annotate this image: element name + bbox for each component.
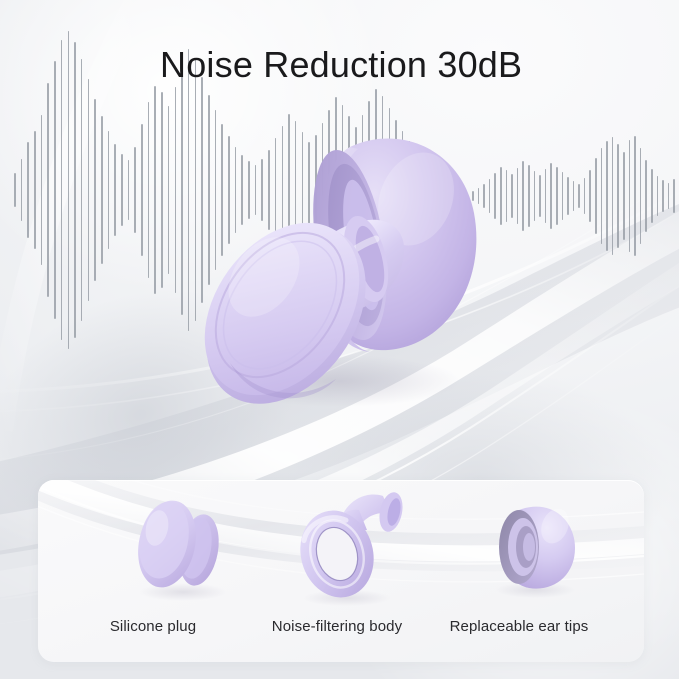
waveform-bar bbox=[645, 160, 647, 232]
waveform-bar bbox=[528, 165, 530, 227]
waveform-bar bbox=[511, 174, 513, 218]
waveform-bar bbox=[101, 116, 103, 264]
waveform-bar bbox=[522, 161, 524, 231]
waveform-bar bbox=[21, 159, 23, 221]
waveform-bar bbox=[567, 177, 569, 215]
waveform-bar bbox=[550, 163, 552, 229]
noise-filtering-body-figure bbox=[285, 482, 425, 607]
waveform-bar bbox=[14, 173, 16, 207]
waveform-bar bbox=[148, 102, 150, 278]
waveform-bar bbox=[134, 147, 136, 233]
waveform-bar bbox=[601, 148, 603, 244]
waveform-bar bbox=[54, 61, 56, 319]
waveform-bar bbox=[589, 170, 591, 222]
waveform-bar bbox=[88, 79, 90, 301]
part-label-replaceable-ear-tips: Replaceable ear tips bbox=[450, 618, 589, 635]
waveform-bar bbox=[617, 144, 619, 248]
waveform-bar bbox=[121, 154, 123, 226]
waveform-bar bbox=[573, 181, 575, 211]
earplug-hero-render bbox=[190, 95, 510, 415]
waveform-bar bbox=[534, 171, 536, 221]
waveform-bar bbox=[128, 160, 130, 220]
waveform-bar bbox=[668, 183, 670, 209]
waveform-bar bbox=[175, 87, 177, 293]
part-label-noise-filtering-body: Noise-filtering body bbox=[272, 618, 402, 635]
waveform-bar bbox=[595, 158, 597, 234]
waveform-bar bbox=[662, 180, 664, 212]
waveform-bar bbox=[556, 167, 558, 225]
waveform-bar bbox=[657, 176, 659, 216]
replaceable-ear-tips-figure bbox=[475, 492, 595, 602]
waveform-bar bbox=[168, 106, 170, 274]
waveform-bar bbox=[673, 179, 675, 213]
waveform-bar bbox=[114, 144, 116, 236]
waveform-bar bbox=[94, 99, 96, 281]
waveform-bar bbox=[161, 92, 163, 288]
waveform-bar bbox=[81, 59, 83, 321]
waveform-bar bbox=[517, 168, 519, 224]
waveform-bar bbox=[651, 169, 653, 223]
waveform-bar bbox=[181, 65, 183, 315]
waveform-bar bbox=[623, 152, 625, 240]
waveform-bar bbox=[629, 140, 631, 252]
waveform-bar bbox=[74, 42, 76, 338]
part-label-silicone-plug: Silicone plug bbox=[110, 618, 196, 635]
waveform-bar bbox=[108, 131, 110, 249]
waveform-bar bbox=[539, 175, 541, 217]
waveform-bar bbox=[578, 184, 580, 208]
silicone-plug-figure bbox=[123, 492, 243, 602]
waveform-bar bbox=[68, 31, 70, 349]
waveform-bar bbox=[41, 115, 43, 265]
waveform-bar bbox=[34, 131, 36, 249]
waveform-bar bbox=[141, 124, 143, 256]
waveform-bar bbox=[640, 148, 642, 244]
waveform-bar bbox=[154, 86, 156, 294]
waveform-bar bbox=[606, 141, 608, 251]
product-image-canvas: Noise Reduction 30dB bbox=[0, 0, 679, 679]
waveform-bar bbox=[61, 40, 63, 340]
waveform-bar bbox=[584, 178, 586, 214]
waveform-bar bbox=[545, 169, 547, 223]
waveform-bar bbox=[634, 136, 636, 256]
waveform-bar bbox=[562, 172, 564, 220]
page-title: Noise Reduction 30dB bbox=[160, 44, 522, 86]
waveform-bar bbox=[47, 83, 49, 297]
waveform-bar bbox=[612, 137, 614, 255]
waveform-bar bbox=[27, 142, 29, 238]
